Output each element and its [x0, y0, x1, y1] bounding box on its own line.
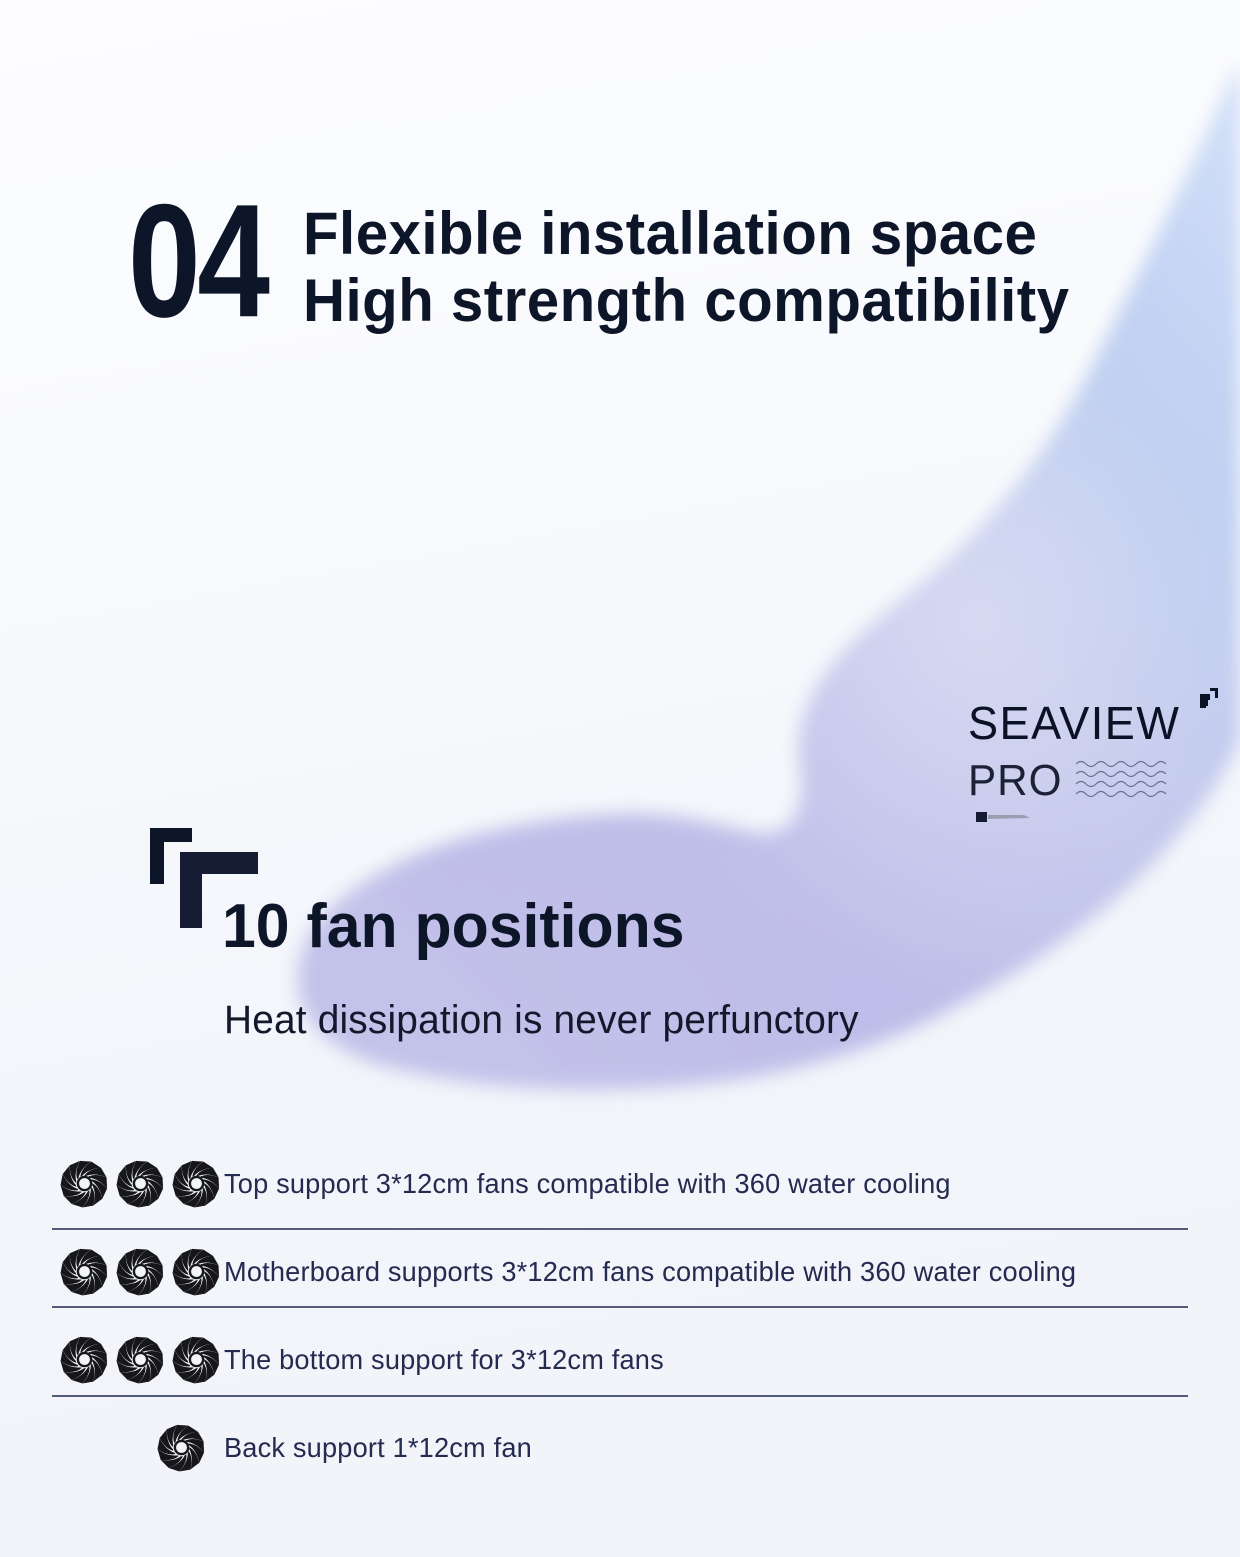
- brand-dash-row: [976, 810, 1228, 824]
- fan-icon: [58, 1246, 110, 1298]
- headline-line-1: Flexible installation space: [303, 200, 1069, 267]
- list-item-label: Motherboard supports 3*12cm fans compati…: [224, 1256, 1076, 1288]
- list-item: Top support 3*12cm fans compatible with …: [0, 1140, 1240, 1228]
- headline-text: Flexible installation space High strengt…: [303, 188, 1093, 334]
- brand-name-text: SEAVIEW: [968, 700, 1180, 746]
- list-item-label: The bottom support for 3*12cm fans: [224, 1344, 664, 1376]
- brand-name-row: SEAVIEW: [968, 700, 1228, 746]
- headline-line-2: High strength compatibility: [303, 267, 1069, 334]
- brand-sub-text: PRO: [968, 759, 1062, 803]
- section-subtitle: Heat dissipation is never perfunctory: [224, 1000, 859, 1040]
- list-divider: [52, 1306, 1188, 1308]
- corner-arrow-icon: [1186, 686, 1218, 720]
- dash-marker-icon: [976, 810, 1038, 824]
- list-item: The bottom support for 3*12cm fans: [0, 1316, 1240, 1404]
- list-divider: [52, 1395, 1188, 1397]
- fan-icon-group: [58, 1246, 222, 1298]
- headline-block: 04 Flexible installation space High stre…: [128, 188, 1093, 334]
- fan-icon-group: [58, 1158, 222, 1210]
- brand-logo: SEAVIEW PRO: [968, 700, 1228, 824]
- product-feature-page: 04 Flexible installation space High stre…: [0, 0, 1240, 1557]
- fan-icon-group: [155, 1422, 207, 1474]
- fan-icon-group: [58, 1334, 222, 1386]
- list-item-label: Top support 3*12cm fans compatible with …: [224, 1168, 951, 1200]
- fan-icon: [170, 1158, 222, 1210]
- section-number: 04: [128, 188, 267, 336]
- fan-icon: [155, 1422, 207, 1474]
- fan-icon: [170, 1334, 222, 1386]
- fan-icon: [114, 1158, 166, 1210]
- wave-lines-icon: [1074, 758, 1174, 804]
- fan-icon: [58, 1334, 110, 1386]
- fan-icon: [114, 1246, 166, 1298]
- fan-icon: [170, 1246, 222, 1298]
- section-title: 10 fan positions: [222, 896, 685, 958]
- fan-icon: [114, 1334, 166, 1386]
- fan-positions-list: Top support 3*12cm fans compatible with …: [0, 1140, 1240, 1492]
- list-item-label: Back support 1*12cm fan: [224, 1432, 532, 1464]
- list-item: Motherboard supports 3*12cm fans compati…: [0, 1228, 1240, 1316]
- list-item: Back support 1*12cm fan: [0, 1404, 1240, 1492]
- fan-icon: [58, 1158, 110, 1210]
- brand-sub-row: PRO: [968, 758, 1228, 804]
- list-divider: [52, 1228, 1188, 1230]
